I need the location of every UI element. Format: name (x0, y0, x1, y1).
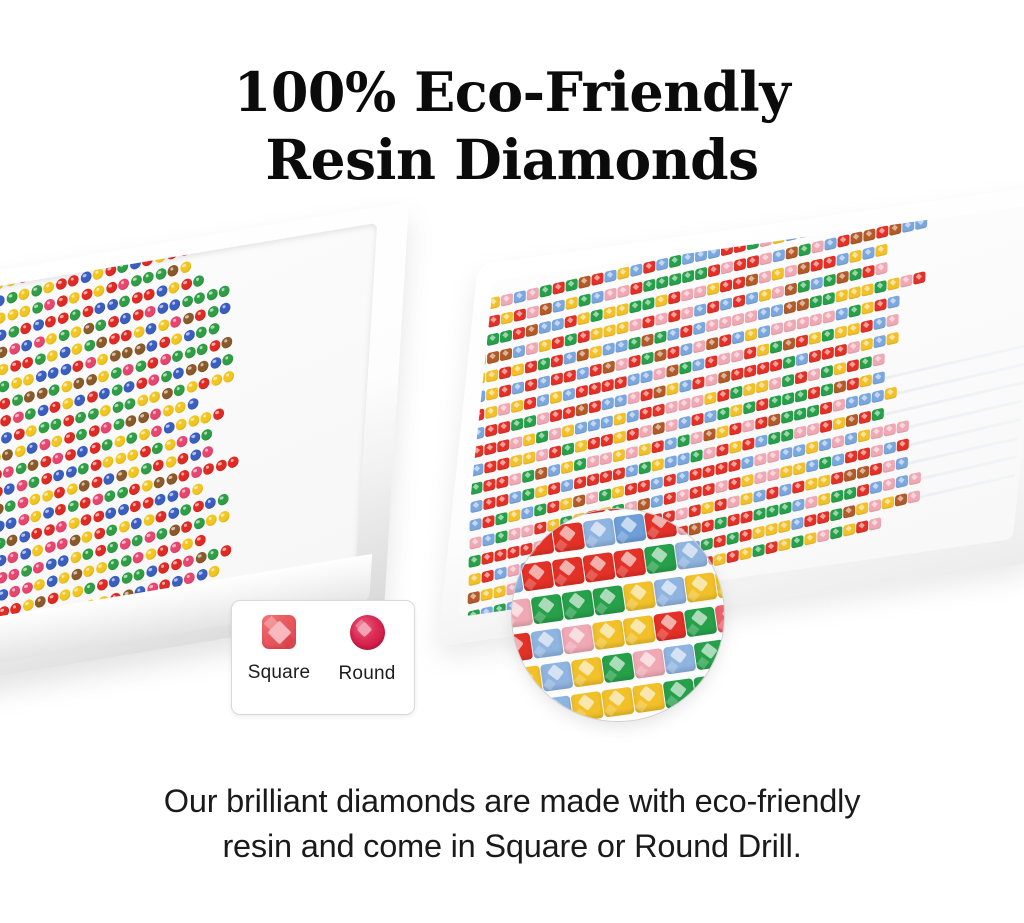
round-drill-bead (46, 574, 57, 588)
round-drill-bead (132, 308, 143, 322)
square-drill-bead (548, 464, 560, 478)
round-drill-bead (187, 397, 198, 411)
square-drill-bead (717, 407, 729, 421)
round-drill-bead (24, 390, 35, 404)
square-drill-bead (522, 488, 534, 502)
square-drill-bead (845, 432, 857, 446)
round-drill-bead (10, 376, 21, 390)
square-drill-bead (861, 283, 873, 297)
round-drill-bead (1, 431, 12, 445)
square-drill-bead (498, 421, 510, 435)
zoom-square-drill-bead (653, 576, 686, 607)
round-drill-bead (39, 438, 50, 452)
round-drill-bead (168, 506, 179, 520)
round-drill-bead (217, 493, 228, 507)
square-drill-bead (484, 442, 496, 456)
square-drill-bead (859, 374, 871, 388)
round-drill-bead (122, 346, 133, 360)
square-drill-bead (536, 412, 548, 426)
round-drill-bead (55, 277, 66, 291)
square-drill-bead (643, 279, 655, 293)
round-drill-bead (49, 400, 60, 414)
square-drill-bead (641, 333, 653, 347)
round-drill-bead (72, 585, 83, 599)
square-drill-bead (756, 380, 768, 394)
square-drill-bead (706, 337, 718, 351)
round-drill-bead (207, 305, 218, 319)
round-drill-bead (170, 558, 181, 572)
square-drill-bead (819, 420, 831, 434)
square-drill-bead (740, 510, 752, 524)
round-drill-bead (191, 482, 202, 496)
square-drill-bead (797, 280, 809, 294)
round-drill-bead (165, 455, 176, 469)
square-drill-bead (469, 536, 481, 550)
square-drill-bead (535, 466, 547, 480)
round-drill-bead (0, 588, 8, 602)
round-drill-bead (95, 561, 106, 575)
square-drill-bead (676, 489, 688, 503)
square-drill-bead (656, 257, 668, 271)
round-drill-bead (228, 455, 239, 469)
square-drill-bead (625, 464, 637, 478)
square-drill-bead (873, 353, 885, 367)
square-drill-bead (831, 490, 843, 504)
square-drill-bead (847, 359, 859, 373)
square-drill-bead (869, 517, 881, 531)
round-drill-bead (0, 503, 3, 517)
square-drill-bead (496, 475, 508, 489)
square-drill-bead (739, 547, 751, 561)
square-drill-bead (741, 474, 753, 488)
square-drill-bead (681, 288, 693, 302)
round-drill-bead (73, 376, 84, 390)
round-drill-bead (8, 325, 19, 339)
square-drill-bead (469, 518, 481, 532)
square-drill-bead (577, 330, 589, 344)
square-drill-bead (705, 355, 717, 369)
round-drill-bead (35, 595, 46, 609)
round-drill-bead (211, 373, 222, 387)
round-drill-bead (69, 308, 80, 322)
square-drill-bead (630, 282, 642, 296)
square-drill-bead (765, 523, 777, 537)
square-drill-bead (858, 429, 870, 443)
zoom-square-drill-bead (705, 535, 724, 566)
square-drill-bead (830, 526, 842, 540)
square-drill-bead (468, 591, 480, 605)
round-drill-bead (141, 479, 152, 493)
square-drill-bead (481, 551, 493, 565)
square-drill-bead (617, 266, 629, 280)
round-drill-bead (212, 407, 223, 421)
zoom-square-drill-bead (684, 572, 717, 603)
square-drill-bead (692, 358, 704, 372)
square-drill-bead (755, 416, 767, 430)
zoom-square-drill-bead (663, 644, 696, 675)
round-drill-bead (8, 567, 19, 581)
square-drill-bead (823, 274, 835, 288)
round-drill-bead (167, 489, 178, 503)
round-drill-bead (118, 520, 129, 534)
square-drill-bead (511, 418, 523, 432)
round-drill-bead (181, 520, 192, 534)
square-drill-bead (778, 520, 790, 534)
round-drill-bead (101, 421, 112, 435)
round-drill-bead (167, 264, 178, 278)
round-drill-bead (83, 322, 94, 336)
square-drill-bead (500, 329, 512, 343)
round-drill-bead (41, 472, 52, 486)
square-drill-bead (575, 403, 587, 417)
zoom-square-drill-bead (592, 585, 625, 616)
round-drill-bead (32, 544, 43, 558)
zoom-square-drill-bead (622, 615, 655, 646)
square-drill-bead (818, 492, 830, 506)
round-drill-bead (4, 482, 15, 496)
square-drill-bead (692, 376, 704, 390)
square-drill-bead (874, 316, 886, 330)
round-drill-bead (173, 366, 184, 380)
round-drill-bead (182, 537, 193, 551)
round-drill-bead (169, 523, 180, 537)
square-drill-bead (678, 434, 690, 448)
round-drill-bead (7, 308, 18, 322)
square-drill-bead (578, 275, 590, 289)
square-drill-bead (716, 443, 728, 457)
zoom-square-drill-bead (601, 652, 634, 683)
square-drill-bead (809, 313, 821, 327)
round-drill-bead (104, 489, 115, 503)
square-drill-bead (702, 464, 714, 478)
square-drill-bead (655, 312, 667, 326)
product-description-line-1: Our brilliant diamonds are made with eco… (0, 779, 1024, 824)
page-title-line-2: Resin Diamonds (0, 126, 1024, 194)
square-drill-bead (886, 314, 898, 328)
round-drill-bead (149, 390, 160, 404)
round-drill-bead (183, 554, 194, 568)
zoom-square-drill-bead (674, 539, 707, 570)
square-drill-bead (882, 478, 894, 492)
square-drill-bead (652, 422, 664, 436)
round-drill-bead (13, 427, 24, 441)
round-drill-bead (143, 513, 154, 527)
round-drill-bead (137, 394, 148, 408)
square-drill-bead (766, 486, 778, 500)
square-drill-bead (549, 427, 561, 441)
square-drill-bead (767, 450, 779, 464)
zoom-square-drill-bead (583, 518, 616, 549)
square-drill-bead (780, 447, 792, 461)
round-drill-bead (37, 404, 48, 418)
zoom-square-drill-bead (540, 695, 573, 721)
square-drill-bead (784, 282, 796, 296)
round-drill-bead (132, 551, 143, 565)
round-drill-bead (9, 342, 20, 356)
round-drill-bead (180, 260, 191, 274)
square-drill-bead (690, 431, 702, 445)
square-drill-bead (626, 446, 638, 460)
round-drill-bead (132, 534, 143, 548)
square-drill-bead (577, 348, 589, 362)
square-drill-bead (486, 387, 498, 401)
square-drill-bead (510, 436, 522, 450)
square-drill-bead (844, 468, 856, 482)
zoom-square-drill-bead (540, 661, 573, 692)
round-drill-bead (40, 455, 51, 469)
square-drill-bead (587, 455, 599, 469)
square-drill-bead (704, 391, 716, 405)
square-drill-bead (639, 425, 651, 439)
round-drill-bead (88, 424, 99, 438)
round-drill-bead (206, 513, 217, 527)
round-drill-bead (215, 459, 226, 473)
square-drill-bead (757, 361, 769, 375)
zoom-square-drill-bead (512, 665, 543, 696)
square-drill-bead (549, 409, 561, 423)
square-drill-bead (834, 362, 846, 376)
round-drill-bead (20, 322, 31, 336)
square-drill-bead (895, 493, 907, 507)
square-drill-bead (566, 278, 578, 292)
zoom-detail-circle (512, 509, 724, 721)
square-drill-bead (601, 397, 613, 411)
square-drill-bead (835, 307, 847, 321)
round-drill-bead (75, 410, 86, 424)
round-drill-bead (42, 489, 53, 503)
square-drill-bead (705, 373, 717, 387)
round-drill-bead (100, 404, 111, 418)
round-drill-bead (186, 380, 197, 394)
round-drill-bead (157, 301, 168, 315)
square-drill-bead (791, 535, 803, 549)
round-drill-bead (65, 465, 76, 479)
square-drill-bead (745, 328, 757, 342)
square-drill-bead (835, 325, 847, 339)
square-drill-bead (794, 407, 806, 421)
square-drill-bead (468, 573, 480, 587)
square-drill-bead (513, 326, 525, 340)
zoom-square-drill-bead (512, 598, 533, 629)
round-drill-bead (136, 376, 147, 390)
square-drill-bead (832, 435, 844, 449)
square-drill-bead (707, 282, 719, 296)
square-drill-bead (524, 378, 536, 392)
square-drill-bead (715, 461, 727, 475)
square-drill-bead (742, 437, 754, 451)
round-drill-bead (109, 575, 120, 589)
square-drill-bead (908, 490, 920, 504)
square-drill-bead (819, 456, 831, 470)
round-drill-bead (62, 397, 73, 411)
square-drill-bead (640, 370, 652, 384)
round-drill-bead (155, 510, 166, 524)
square-drill-bead (615, 339, 627, 353)
square-drill-bead (588, 418, 600, 432)
square-drill-bead (756, 398, 768, 412)
square-drill-bead (771, 304, 783, 318)
round-drill-bead (205, 496, 216, 510)
round-drill-bead (5, 516, 16, 530)
square-drill-bead (651, 458, 663, 472)
square-drill-bead (797, 298, 809, 312)
square-drill-bead (861, 301, 873, 315)
square-drill-bead (682, 270, 694, 284)
square-drill-bead (822, 310, 834, 324)
square-drill-bead (798, 261, 810, 275)
square-drill-bead (665, 400, 677, 414)
square-drill-bead (602, 379, 614, 393)
round-drill-bead (74, 393, 85, 407)
square-drill-bead (627, 409, 639, 423)
square-drill-bead (768, 413, 780, 427)
square-drill-bead (524, 415, 536, 429)
square-drill-bead (745, 291, 757, 305)
round-drill-bead (4, 499, 15, 513)
square-drill-bead (499, 366, 511, 380)
round-drill-bead (6, 291, 17, 305)
square-drill-bead (837, 234, 849, 248)
square-drill-bead (804, 532, 816, 546)
round-drill-bead (99, 387, 110, 401)
round-drill-bead (109, 349, 120, 363)
round-drill-bead (36, 386, 47, 400)
square-drill-bead (718, 352, 730, 366)
round-drill-bead (130, 274, 141, 288)
round-drill-bead (119, 294, 130, 308)
round-drill-bead (0, 345, 8, 359)
square-drill-bead (832, 417, 844, 431)
square-drill-bead (831, 471, 843, 485)
round-drill-bead (195, 551, 206, 565)
round-drill-bead (80, 513, 91, 527)
square-drill-bead (848, 304, 860, 318)
round-drill-bead (83, 564, 94, 578)
square-drill-bead (550, 372, 562, 386)
zoom-square-drill-bead (623, 581, 656, 612)
square-drill-bead (740, 492, 752, 506)
round-drill-bead (96, 578, 107, 592)
square-drill-bead (599, 488, 611, 502)
round-drill-bead (80, 270, 91, 284)
square-drill-bead (753, 489, 765, 503)
zoom-square-drill-bead (571, 657, 604, 688)
square-drill-bead (810, 277, 822, 291)
square-drill-bead (727, 495, 739, 509)
square-drill-bead (514, 290, 526, 304)
round-drill-bead (121, 571, 132, 585)
square-drill-bead (785, 246, 797, 260)
round-drill-bead (126, 431, 137, 445)
square-drill-bead (783, 337, 795, 351)
round-drill-bead (0, 397, 10, 411)
zoom-square-drill-bead (561, 624, 594, 655)
zoom-square-drill-bead (561, 589, 594, 620)
round-drill-bead (82, 547, 93, 561)
square-drill-bead (565, 296, 577, 310)
zoom-square-drill-bead (592, 619, 625, 650)
square-drill-bead (869, 499, 881, 513)
round-drill-bead (194, 534, 205, 548)
square-drill-bead (487, 314, 499, 328)
round-drill-bead (31, 527, 42, 541)
round-drill-bead (0, 311, 6, 325)
round-drill-bead (196, 568, 207, 582)
square-drill-bead (601, 415, 613, 429)
square-drill-bead (484, 460, 496, 474)
round-drill-bead (112, 400, 123, 414)
zoom-square-drill-bead (552, 556, 585, 587)
round-drill-bead (102, 455, 113, 469)
square-drill-bead (614, 412, 626, 426)
square-drill-bead (707, 264, 719, 278)
square-drill-bead (615, 358, 627, 372)
square-drill-bead (524, 396, 536, 410)
round-drill-bead (148, 373, 159, 387)
round-drill-bead (0, 362, 9, 376)
square-drill-bead (833, 398, 845, 412)
square-drill-bead (742, 419, 754, 433)
round-drill-bead (44, 540, 55, 554)
square-drill-bead (561, 461, 573, 475)
round-drill-bead (159, 335, 170, 349)
round-drill-bead (156, 284, 167, 298)
square-drill-bead (873, 335, 885, 349)
square-drill-bead (821, 365, 833, 379)
square-drill-bead (836, 289, 848, 303)
square-drill-bead (600, 452, 612, 466)
square-drill-bead (707, 300, 719, 314)
square-drill-bead (617, 285, 629, 299)
square-drill-bead (752, 544, 764, 558)
round-drill-bead (105, 506, 116, 520)
round-drill-bead (42, 506, 53, 520)
round-drill-bead (138, 411, 149, 425)
square-drill-bead (680, 324, 692, 338)
round-drill-bead (15, 462, 26, 476)
round-drill-bead (95, 318, 106, 332)
square-drill-bead (861, 319, 873, 333)
square-drill-bead (663, 492, 675, 506)
legend-label-round: Round (339, 663, 396, 685)
square-drill-bead (665, 437, 677, 451)
round-drill-bead (177, 452, 188, 466)
square-drill-bead (820, 383, 832, 397)
round-drill-bead (57, 311, 68, 325)
square-drill-bead (728, 477, 740, 491)
round-drill-bead (32, 318, 43, 332)
round-drill-bead (68, 516, 79, 530)
square-drill-bead (882, 496, 894, 510)
zoom-square-drill-bead (644, 509, 677, 540)
round-drill-bead (122, 363, 133, 377)
square-drill-bead (792, 498, 804, 512)
round-drill-bead (66, 482, 77, 496)
square-drill-bead (588, 400, 600, 414)
round-drill-bead (144, 530, 155, 544)
square-drill-bead (860, 338, 872, 352)
round-drill-bead (20, 564, 31, 578)
round-drill-bead (51, 434, 62, 448)
square-drill-bead (768, 431, 780, 445)
page-title-line-1: 100% Eco-Friendly (0, 58, 1024, 126)
square-drill-bead (650, 495, 662, 509)
round-drill-bead (0, 468, 2, 482)
square-drill-bead (639, 443, 651, 457)
square-drill-bead (856, 520, 868, 534)
zoom-square-drill-bead (531, 594, 564, 625)
square-drill-bead (752, 526, 764, 540)
